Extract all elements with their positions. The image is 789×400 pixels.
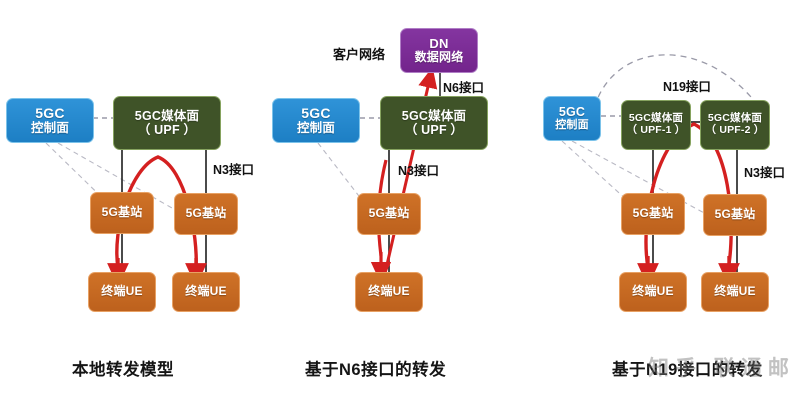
p2-upf-line2: （ UPF ）	[405, 123, 463, 137]
p2-5gc-control-plane[interactable]: 5GC 控制面	[272, 98, 360, 143]
p1-gnb-left[interactable]: 5G基站	[90, 192, 154, 234]
p1-gnb-right-label: 5G基站	[186, 207, 227, 220]
p1-ue-left[interactable]: 终端UE	[88, 272, 156, 312]
p2-cp-line1: 5GC	[301, 106, 330, 122]
p1-cp-line1: 5GC	[35, 106, 64, 122]
p1-ue-left-label: 终端UE	[101, 285, 142, 298]
p2-dn-data-network[interactable]: DN 数据网络	[400, 28, 478, 73]
p1-gnb-left-label: 5G基站	[102, 206, 143, 219]
p2-upf-user-plane[interactable]: 5GC媒体面 （ UPF ）	[380, 96, 488, 150]
p2-caption: 基于N6接口的转发	[305, 356, 446, 380]
p2-ue-label: 终端UE	[368, 285, 409, 298]
p1-caption: 本地转发模型	[72, 356, 174, 380]
p3-ue-right[interactable]: 终端UE	[701, 272, 769, 312]
p3-n19-interface-label: N19接口	[663, 76, 711, 95]
p1-gnb-right[interactable]: 5G基站	[174, 193, 238, 235]
p2-customer-network-label: 客户网络	[333, 44, 385, 63]
p1-cp-line2: 控制面	[31, 121, 69, 135]
p1-n3-interface-label: N3接口	[213, 159, 254, 178]
p3-ue-left[interactable]: 终端UE	[619, 272, 687, 312]
p3-ue-right-label: 终端UE	[714, 285, 755, 298]
p2-ue[interactable]: 终端UE	[355, 272, 423, 312]
p2-upf-line1: 5GC媒体面	[402, 109, 466, 123]
p1-5gc-control-plane[interactable]: 5GC 控制面	[6, 98, 94, 143]
p3-5gc-control-plane[interactable]: 5GC 控制面	[543, 96, 601, 141]
p3-gnb-left-label: 5G基站	[633, 207, 674, 220]
p3-n3-interface-label: N3接口	[744, 162, 785, 181]
p1-upf-line2: （ UPF ）	[138, 123, 196, 137]
p2-dn-line2: 数据网络	[415, 51, 464, 64]
p2-n6-interface-label: N6接口	[443, 77, 484, 96]
p3-upf2-line2: （ UPF-2 ）	[706, 125, 765, 137]
p3-cp-line2: 控制面	[555, 119, 589, 131]
p2-dn-line1: DN	[429, 37, 448, 52]
p1-ue-right[interactable]: 终端UE	[172, 272, 240, 312]
p1-upf-user-plane[interactable]: 5GC媒体面 （ UPF ）	[113, 96, 221, 150]
p2-gnb[interactable]: 5G基站	[357, 193, 421, 235]
panel3-connectors	[562, 55, 760, 274]
site-watermark: 知乎 联通邮电网	[648, 352, 789, 382]
p2-gnb-label: 5G基站	[369, 207, 410, 220]
p3-ue-left-label: 终端UE	[632, 285, 673, 298]
p1-upf-line1: 5GC媒体面	[135, 109, 199, 123]
p3-upf1-line2: （ UPF-1 ）	[627, 125, 686, 137]
p3-gnb-right[interactable]: 5G基站	[703, 194, 767, 236]
p2-n3-interface-label: N3接口	[398, 160, 439, 179]
p3-cp-line1: 5GC	[559, 105, 585, 119]
p3-upf-1[interactable]: 5GC媒体面 （ UPF-1 ）	[621, 100, 691, 150]
diagram-canvas: 5GC 控制面 5GC媒体面 （ UPF ） 5G基站 5G基站 终端UE 终端…	[0, 0, 789, 400]
p1-ue-right-label: 终端UE	[185, 285, 226, 298]
p3-gnb-left[interactable]: 5G基站	[621, 193, 685, 235]
p3-gnb-right-label: 5G基站	[715, 208, 756, 221]
p2-cp-line2: 控制面	[297, 121, 335, 135]
p3-upf-2[interactable]: 5GC媒体面 （ UPF-2 ）	[700, 100, 770, 150]
